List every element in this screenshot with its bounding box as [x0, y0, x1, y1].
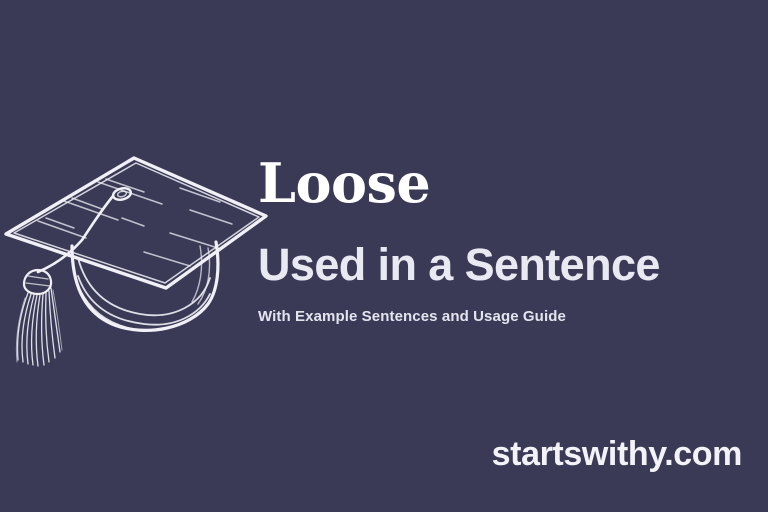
graduation-cap-icon [0, 138, 274, 378]
page-title: Used in a Sentence [258, 241, 758, 288]
banner-text-block: Loose Used in a Sentence With Example Se… [258, 156, 758, 326]
site-brand-label: startswithy.com [492, 437, 742, 471]
word-banner: Loose Used in a Sentence With Example Se… [0, 0, 768, 512]
subtitle-text: With Example Sentences and Usage Guide [258, 308, 758, 326]
headword-title: Loose [258, 156, 758, 210]
